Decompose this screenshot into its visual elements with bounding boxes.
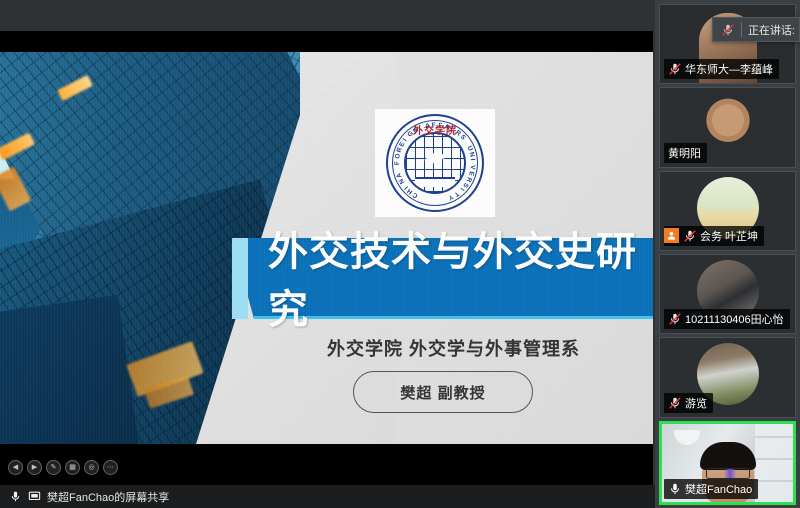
participant-nametag: 10211130406田心怡 — [664, 309, 790, 329]
tooltip-label: 正在讲话: — [748, 22, 795, 38]
zoom-meeting-window: 外交学院 CHINA FOREIGN AFFAIRS UNIVERSITY 外交… — [0, 0, 800, 508]
microphone-muted-icon — [668, 312, 682, 326]
slide-speaker-pill: 樊超 副教授 — [353, 371, 533, 413]
participant-name: 10211130406田心怡 — [685, 311, 784, 327]
speaking-tooltip: 正在讲话: — [712, 17, 800, 42]
presentation-slide: 外交学院 CHINA FOREIGN AFFAIRS UNIVERSITY 外交… — [0, 52, 653, 444]
pen-tool-button[interactable]: ✎ — [46, 460, 61, 475]
participant-name: 黄明阳 — [668, 145, 701, 161]
microphone-muted-icon — [668, 396, 682, 410]
participant-name: 樊超FanChao — [685, 481, 752, 497]
screen-share-status-bar: 樊超FanChao的屏幕共享 — [0, 485, 655, 508]
participant-nametag: 黄明阳 — [664, 143, 707, 163]
participant-nametag: 华东师大—李蕴峰 — [664, 59, 779, 79]
tooltip-divider — [741, 22, 742, 37]
shared-screen-viewport[interactable]: 外交学院 CHINA FOREIGN AFFAIRS UNIVERSITY 外交… — [0, 31, 653, 485]
university-logo: 外交学院 CHINA FOREIGN AFFAIRS UNIVERSITY — [375, 109, 495, 217]
microphone-icon — [668, 482, 682, 496]
zoom-tool-button[interactable]: ◎ — [84, 460, 99, 475]
screen-share-icon[interactable] — [28, 490, 41, 503]
logo-english-name: CHINA FOREIGN AFFAIRS UNIVERSITY — [388, 116, 482, 210]
host-badge-icon — [664, 228, 679, 243]
eyeglasses — [706, 468, 750, 479]
participant-name: 游览 — [685, 395, 707, 411]
participant-tile[interactable]: 10211130406田心怡 — [659, 254, 796, 334]
microphone-icon[interactable] — [9, 490, 22, 503]
shared-screen-area: 外交学院 CHINA FOREIGN AFFAIRS UNIVERSITY 外交… — [0, 0, 655, 508]
participant-strip: 华东师大—李蕴峰 黄明阳 — [655, 0, 800, 508]
participant-tile[interactable]: 黄明阳 — [659, 87, 796, 167]
participant-name: 会务 叶芷坤 — [700, 228, 758, 244]
more-options-button[interactable]: ⋯ — [103, 460, 118, 475]
presenter-toolbar[interactable]: ◀ ▶ ✎ ▦ ◎ ⋯ — [8, 460, 118, 475]
participant-nametag: 樊超FanChao — [664, 479, 758, 499]
slide-title: 外交技术与外交史研究 — [254, 219, 653, 335]
prev-slide-button[interactable]: ◀ — [8, 460, 23, 475]
slide-subtitle: 外交学院 外交学与外事管理系 — [254, 335, 653, 361]
participant-tile[interactable]: 会务 叶芷坤 — [659, 171, 796, 251]
participant-tile[interactable]: 游览 — [659, 337, 796, 417]
microphone-muted-icon — [683, 229, 697, 243]
slide-grid-button[interactable]: ▦ — [65, 460, 80, 475]
participant-nametag: 游览 — [664, 393, 713, 413]
microphone-muted-icon — [668, 62, 682, 76]
microphone-muted-icon — [721, 23, 735, 37]
participant-tile-active-speaker[interactable]: 樊超FanChao — [659, 421, 796, 505]
next-slide-button[interactable]: ▶ — [27, 460, 42, 475]
slide-title-banner: 外交技术与外交史研究 — [254, 238, 653, 319]
participant-nametag: 会务 叶芷坤 — [664, 226, 764, 246]
banner-accent — [232, 238, 248, 319]
share-status-label: 樊超FanChao的屏幕共享 — [47, 489, 169, 505]
participant-name: 华东师大—李蕴峰 — [685, 61, 773, 77]
